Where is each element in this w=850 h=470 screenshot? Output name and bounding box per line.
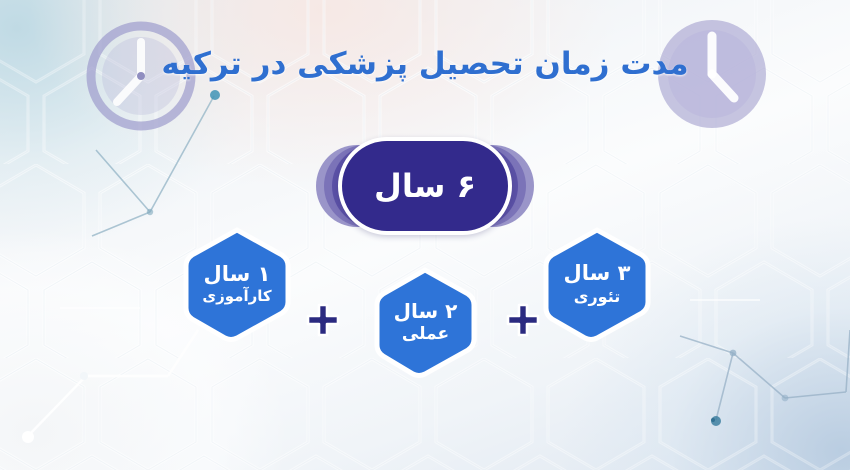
- stage-duration: ۱ سال: [204, 263, 271, 287]
- stage-hexagon-internship-content: ۱ سال کارآموزی: [178, 226, 296, 342]
- molecular-network-bottom-left: [28, 330, 198, 436]
- total-duration-pill: ۶ سال: [338, 137, 512, 235]
- infographic-canvas: مدت زمان تحصیل پزشکی در ترکیه ۶ سال ۳ سا…: [0, 0, 850, 470]
- total-duration-badge: ۶ سال: [312, 137, 538, 235]
- stage-name: تئوری: [574, 288, 620, 306]
- stage-name: کارآموزی: [202, 288, 271, 305]
- page-title: مدت زمان تحصیل پزشکی در ترکیه: [0, 46, 850, 82]
- stage-hexagon-internship: ۱ سال کارآموزی: [178, 226, 296, 342]
- plus-icon: [306, 303, 340, 337]
- total-duration-label: ۶ سال: [374, 170, 476, 202]
- molecular-network-top-left: [92, 96, 214, 236]
- stage-name: عملی: [402, 325, 449, 344]
- stage-hexagon-theory: ۳ سال تئوری: [538, 226, 656, 342]
- stage-duration: ۳ سال: [564, 262, 631, 286]
- plus-icon: [506, 303, 540, 337]
- stage-hexagon-theory-content: ۳ سال تئوری: [538, 226, 656, 342]
- stage-hexagon-practical-content: ۲ سال عملی: [369, 266, 482, 378]
- stage-duration: ۲ سال: [394, 300, 458, 322]
- molecular-network-bottom-right: [680, 330, 850, 420]
- stage-hexagon-practical: ۲ سال عملی: [369, 266, 482, 378]
